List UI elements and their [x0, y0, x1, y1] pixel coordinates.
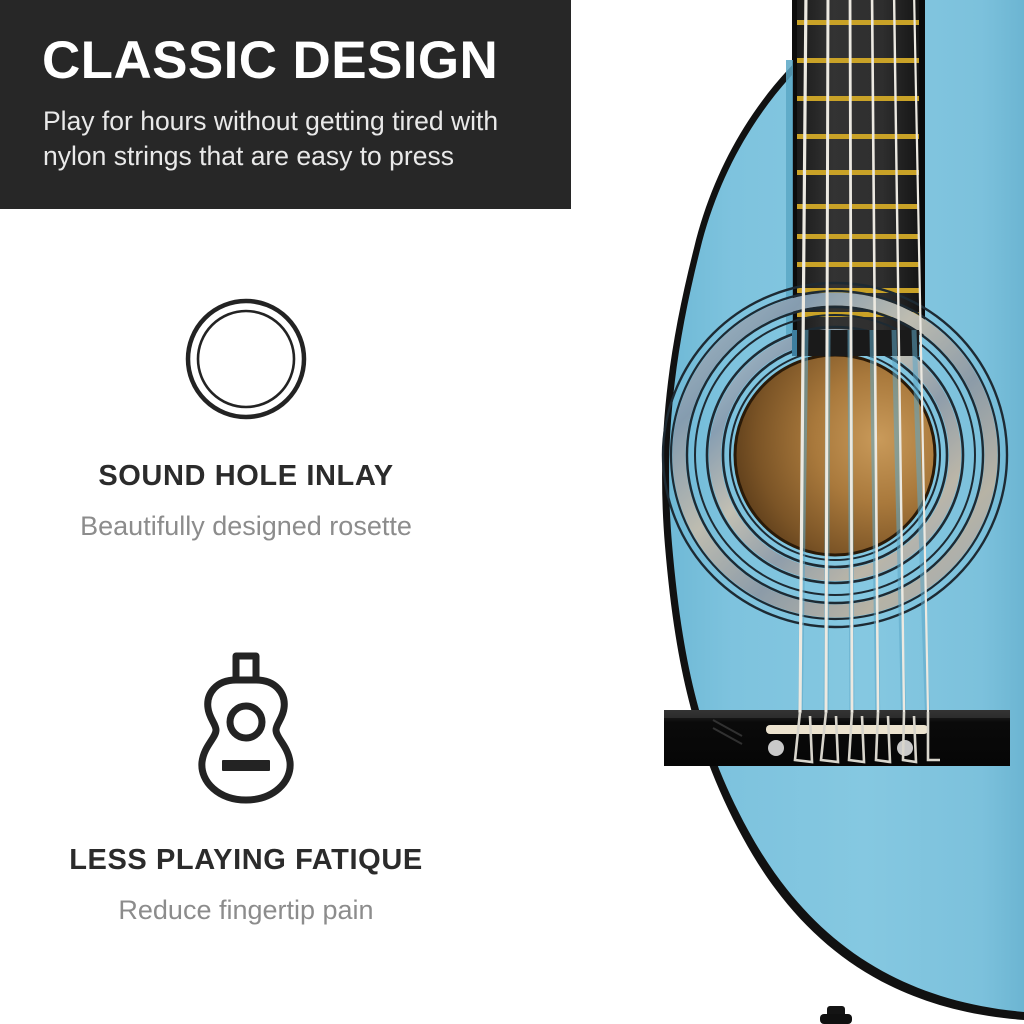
infographic-canvas: CLASSIC DESIGN Play for hours without ge…: [0, 0, 1024, 1024]
page-title: CLASSIC DESIGN: [42, 32, 498, 90]
feature-subtitle: Reduce fingertip pain: [0, 892, 492, 928]
rosette-ring-icon: [183, 296, 309, 422]
page-subtitle: Play for hours without getting tired wit…: [43, 104, 553, 174]
acoustic-guitar-icon: [190, 650, 302, 808]
feature-title: LESS PLAYING FATIQUE: [0, 844, 492, 877]
strap-button-endpin: [820, 1006, 852, 1024]
bridge-dot-right: [897, 740, 913, 756]
header-banner: CLASSIC DESIGN Play for hours without ge…: [0, 0, 571, 209]
feature-subtitle: Beautifully designed rosette: [0, 508, 492, 544]
feature-title: SOUND HOLE INLAY: [0, 460, 492, 493]
bridge-dot-left: [768, 740, 784, 756]
icon-bridge: [222, 760, 270, 771]
sound-hole: [735, 355, 935, 555]
feature-less-playing-fatique: LESS PLAYING FATIQUE Reduce fingertip pa…: [0, 650, 492, 928]
feature-sound-hole-inlay: SOUND HOLE INLAY Beautifully designed ro…: [0, 296, 492, 544]
